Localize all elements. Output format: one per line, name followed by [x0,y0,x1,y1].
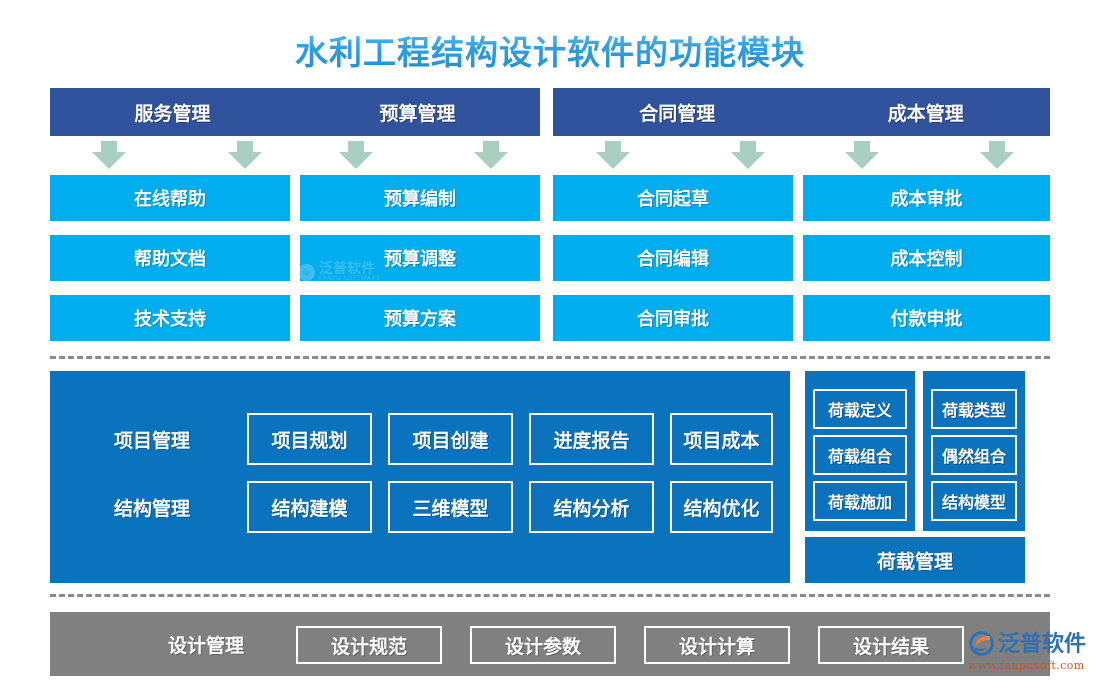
header-cell-cost[interactable]: 成本管理 [802,88,1051,136]
load-box-type[interactable]: 荷载类型 [931,389,1017,429]
load-panel-column-a: 荷载定义 荷载组合 荷载施加 [805,371,915,531]
module-box-budget-prepare[interactable]: 预算编制 [300,175,540,221]
diagram-root: 水利工程结构设计软件的功能模块 水利工程结构设计软件的功能模块 服务管理 预算管… [0,0,1100,700]
header-cell-contract[interactable]: 合同管理 [553,88,802,136]
load-box-apply[interactable]: 荷载施加 [813,481,907,521]
arrow-down-icon [228,141,262,169]
module-box-help-doc[interactable]: 帮助文档 [50,235,290,281]
arrow-down-icon [845,141,879,169]
header-group-right: 合同管理 成本管理 [553,88,1050,136]
module-box-budget-adjust[interactable]: 预算调整 [300,235,540,281]
module-box-cost-approve[interactable]: 成本审批 [803,175,1050,221]
design-box-standard[interactable]: 设计规范 [296,626,442,664]
design-box-parameter[interactable]: 设计参数 [470,626,616,664]
load-box-accidental-comb[interactable]: 偶然组合 [931,435,1017,475]
load-box-combine[interactable]: 荷载组合 [813,435,907,475]
design-bar: 设计管理 设计规范 设计参数 设计计算 设计结果 [50,612,1050,676]
brand-logo: 泛普软件 www.fanpusoft.com [968,630,1086,672]
page-title: 水利工程结构设计软件的功能模块 [0,26,1100,74]
module-box-payment-approve[interactable]: 付款申批 [803,295,1050,341]
panel-box-project-cost[interactable]: 项目成本 [670,413,773,465]
load-management-bar[interactable]: 荷载管理 [805,537,1025,583]
module-box-contract-edit[interactable]: 合同编辑 [553,235,793,281]
design-box-result[interactable]: 设计结果 [818,626,964,664]
main-panel: 项目管理 结构管理 项目规划 项目创建 进度报告 项目成本 结构建模 三维模型 … [50,371,790,583]
arrow-down-icon [596,141,630,169]
panel-box-project-plan[interactable]: 项目规划 [247,413,372,465]
divider-bottom [50,594,1050,597]
design-bar-label: 设计管理 [126,618,286,670]
row-label-project: 项目管理 [72,413,232,465]
arrow-down-icon [92,141,126,169]
panel-box-structure-optimize[interactable]: 结构优化 [670,481,773,533]
load-box-define[interactable]: 荷载定义 [813,389,907,429]
module-box-tech-support[interactable]: 技术支持 [50,295,290,341]
header-cell-service[interactable]: 服务管理 [50,88,295,136]
panel-box-3d-model[interactable]: 三维模型 [388,481,513,533]
module-box-online-help[interactable]: 在线帮助 [50,175,290,221]
design-box-calculate[interactable]: 设计计算 [644,626,790,664]
logo-url: www.fanpusoft.com [968,659,1085,672]
module-box-contract-draft[interactable]: 合同起草 [553,175,793,221]
logo-name: 泛普软件 [998,633,1086,655]
load-box-structure-model[interactable]: 结构模型 [931,481,1017,521]
arrow-down-icon [731,141,765,169]
fanpu-logo-icon [968,630,995,657]
module-box-contract-approve[interactable]: 合同审批 [553,295,793,341]
panel-box-progress-report[interactable]: 进度报告 [529,413,654,465]
arrow-down-icon [980,141,1014,169]
row-label-structure: 结构管理 [72,481,232,533]
panel-box-project-create[interactable]: 项目创建 [388,413,513,465]
module-box-cost-control[interactable]: 成本控制 [803,235,1050,281]
module-box-budget-plan[interactable]: 预算方案 [300,295,540,341]
arrow-down-icon [474,141,508,169]
header-cell-budget[interactable]: 预算管理 [295,88,540,136]
divider-top [50,356,1050,359]
arrow-down-icon [339,141,373,169]
header-group-left: 服务管理 预算管理 [50,88,540,136]
load-panel-column-b: 荷载类型 偶然组合 结构模型 [923,371,1025,531]
panel-box-structure-model[interactable]: 结构建模 [247,481,372,533]
panel-box-structure-analysis[interactable]: 结构分析 [529,481,654,533]
